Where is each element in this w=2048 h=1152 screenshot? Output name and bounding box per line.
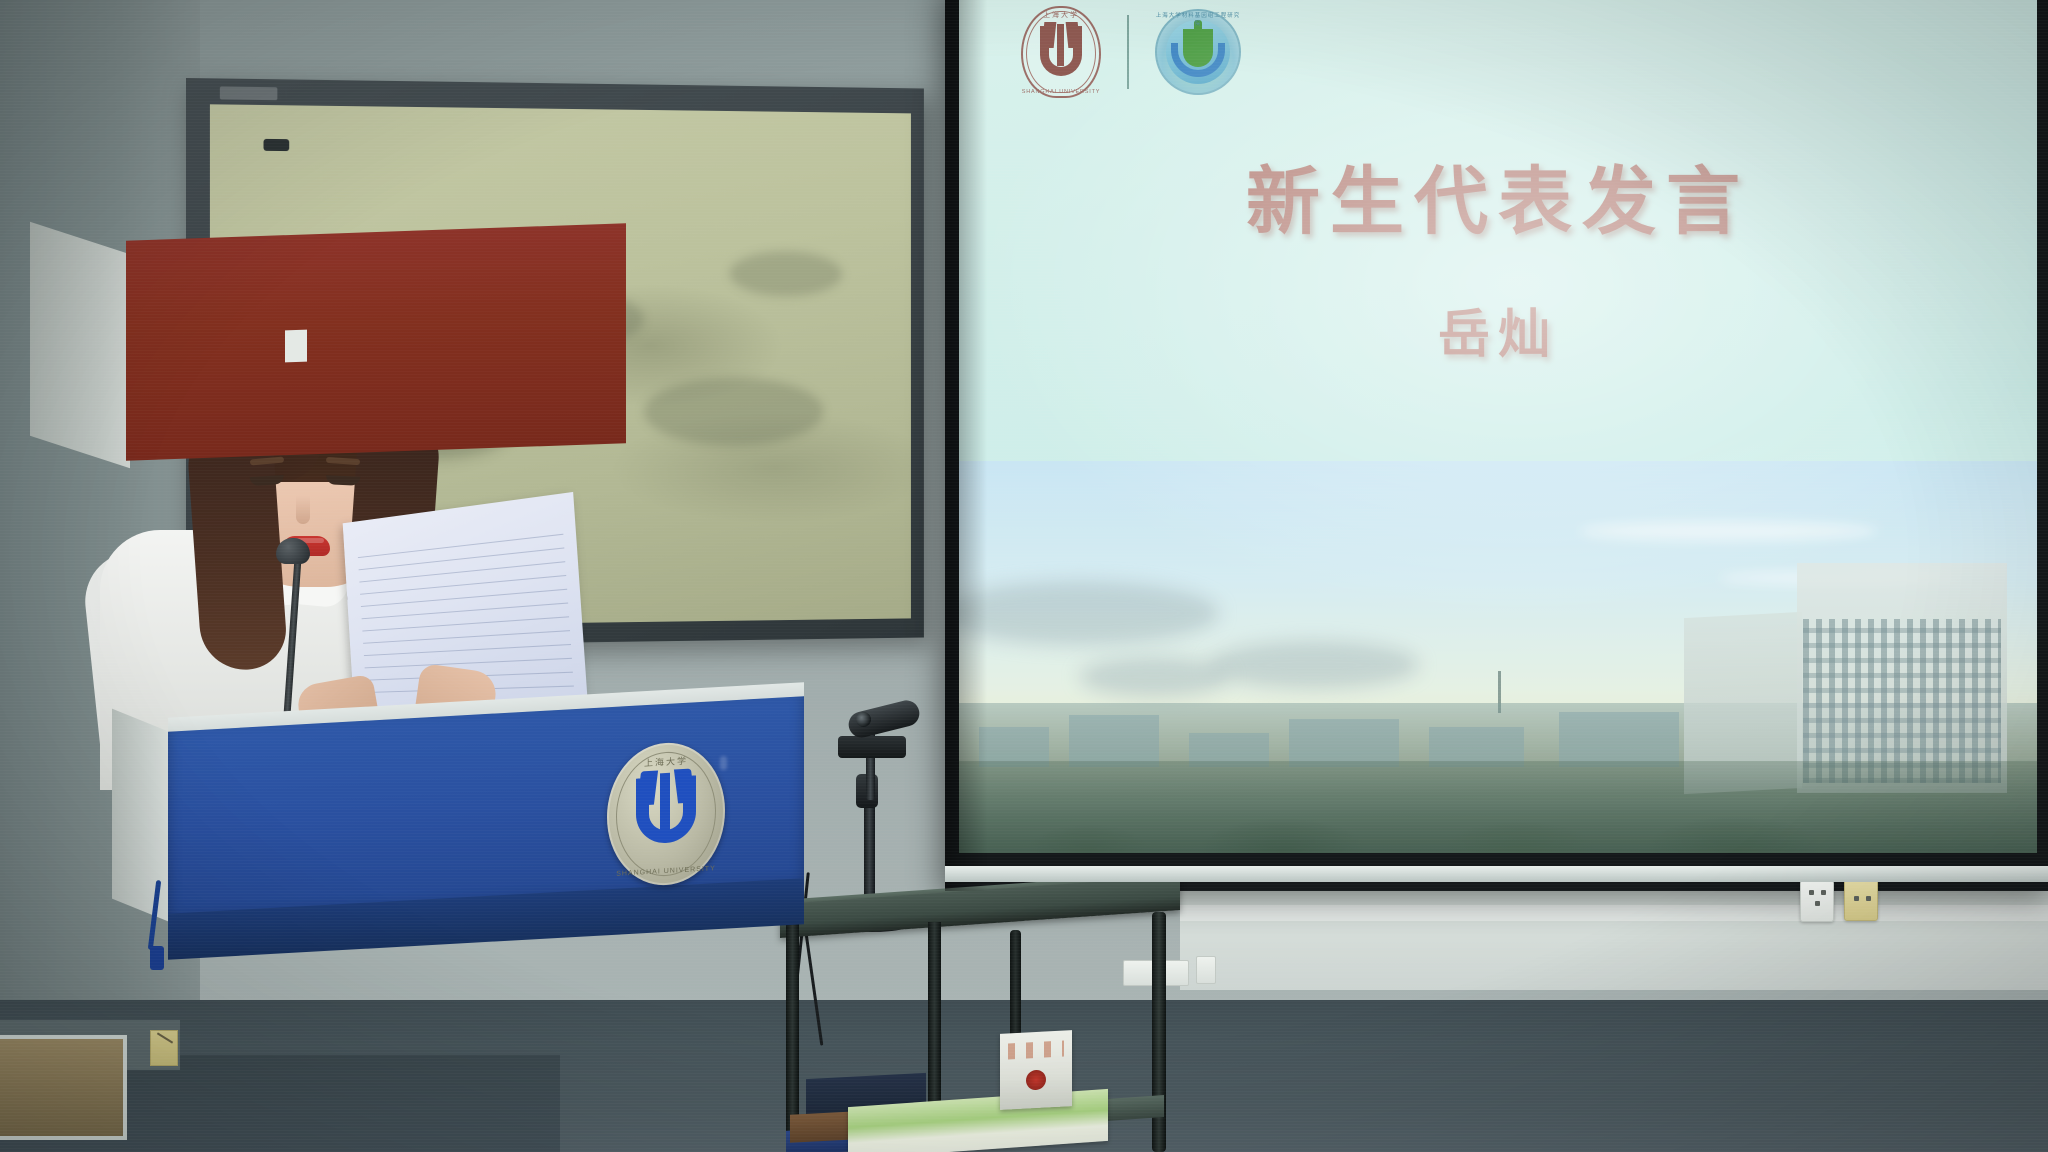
campus-skyline-photo [959,461,2037,853]
building [1069,715,1159,767]
logo-divider [1127,15,1129,89]
wall-outlet-white[interactable] [1800,880,1834,922]
camera-mount-clamp [838,736,906,758]
photo-treeline [959,761,2037,853]
projection-screen: 上海大学 SHANGHAI UNIVERSITY 上海大学材料基因组工程研 [945,0,2048,891]
shanghai-university-emblem: 上海大学 SHANGHAI UNIVERSITY [607,740,725,889]
logo-chinese-text: 上海大学 [1021,10,1101,20]
slide-subtitle-speaker-name: 岳灿 [959,292,2037,367]
campus-building-main [1797,563,2007,793]
shanghai-university-logo: 上海大学 SHANGHAI UNIVERSITY [1021,6,1101,98]
whiteboard-top-clip [264,139,290,151]
presentation-slide: 上海大学 SHANGHAI UNIVERSITY 上海大学材料基因组工程研 [959,0,2037,853]
slide-logo-bar: 上海大学 SHANGHAI UNIVERSITY 上海大学材料基因组工程研 [1021,6,1241,98]
lectern-body-left [30,222,130,468]
wall-wood-panel [0,1035,127,1140]
institute-logo: 上海大学材料基因组工程研究院 [1155,9,1241,95]
wall-outlet-cream[interactable] [1844,879,1878,921]
sky-streak [1579,521,1879,541]
screen-surface: 上海大学 SHANGHAI UNIVERSITY 上海大学材料基因组工程研 [959,0,2037,853]
institute-logo-text: 上海大学材料基因组工程研究院 [1155,11,1241,27]
whiteboard-smudge [729,251,842,296]
screen-bottom-lip [945,866,2048,882]
tissue-box-pattern [1008,1041,1064,1060]
whiteboard-smudge [644,378,823,447]
microphone-head-icon [276,538,310,564]
building [1289,719,1399,767]
logo-english-text: SHANGHAI UNIVERSITY [1021,89,1101,95]
building [1559,712,1679,767]
nose [296,496,310,524]
whiteboard-brand-tag [220,86,277,100]
lectern-body [126,223,626,460]
wall-highlight-band [1180,905,2048,921]
slide-title: 新生代表发言 [959,142,2037,249]
wall-plate-narrow[interactable] [1196,956,1216,984]
cloud [1079,657,1229,697]
lectern: 上海大学 SHANGHAI UNIVERSITY [120,700,810,1152]
lectern-cable-tag [150,946,164,970]
cloud [1209,641,1419,689]
screenshot-scene: 上海大学 SHANGHAI UNIVERSITY 上海大学材料基因组工程研 [0,0,2048,1152]
lectern-sticker [285,330,307,363]
building-windows [1803,619,2001,783]
